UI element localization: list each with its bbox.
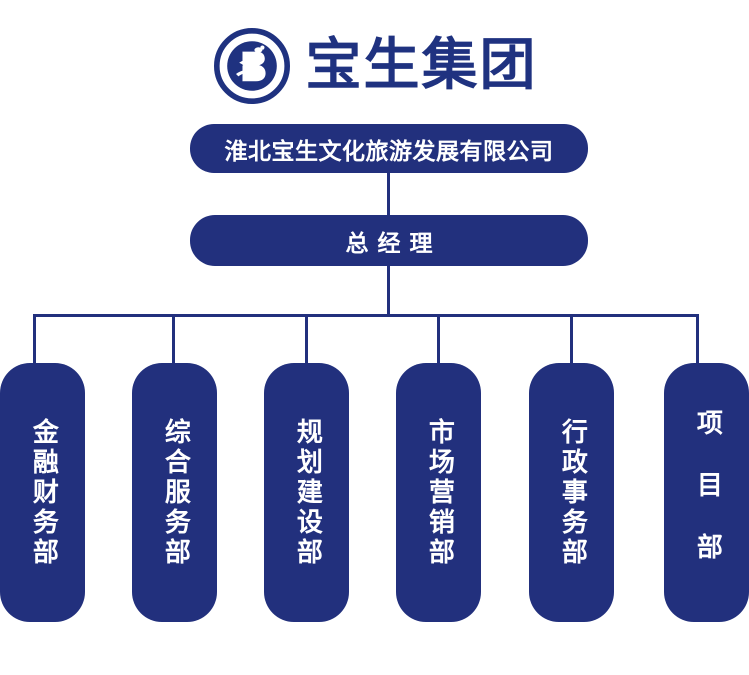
connector-drop-5 (570, 314, 573, 366)
connector-drop-3 (305, 314, 308, 366)
connector-company-to-gm (387, 171, 390, 217)
company-node: 淮北宝生文化旅游发展有限公司 (190, 124, 588, 173)
department-node-4: 市场营销部 (396, 363, 481, 622)
connector-drop-4 (437, 314, 440, 366)
connector-drop-1 (33, 314, 36, 366)
department-label: 市场营销部 (420, 418, 458, 568)
department-label: 规划建设部 (288, 418, 326, 568)
org-chart-canvas: 宝生集团 淮北宝生文化旅游发展有限公司 总经理 金融财务部 综合服务部 规划建设… (0, 0, 749, 675)
department-label: 项目部 (688, 409, 726, 595)
department-node-5: 行政事务部 (529, 363, 614, 622)
connector-drop-2 (172, 314, 175, 366)
department-label: 金融财务部 (24, 418, 62, 568)
department-label: 行政事务部 (553, 418, 591, 568)
brand-header: 宝生集团 (0, 18, 749, 114)
connector-department-bus (33, 314, 699, 317)
circle-b-monogram-icon (212, 26, 292, 106)
department-node-3: 规划建设部 (264, 363, 349, 622)
brand-name: 宝生集团 (306, 38, 538, 94)
department-node-6: 项目部 (664, 363, 749, 622)
general-manager-node: 总经理 (190, 215, 588, 266)
department-label: 综合服务部 (156, 418, 194, 568)
department-node-1: 金融财务部 (0, 363, 85, 622)
connector-gm-trunk (387, 264, 390, 317)
department-node-2: 综合服务部 (132, 363, 217, 622)
connector-drop-6 (696, 314, 699, 366)
